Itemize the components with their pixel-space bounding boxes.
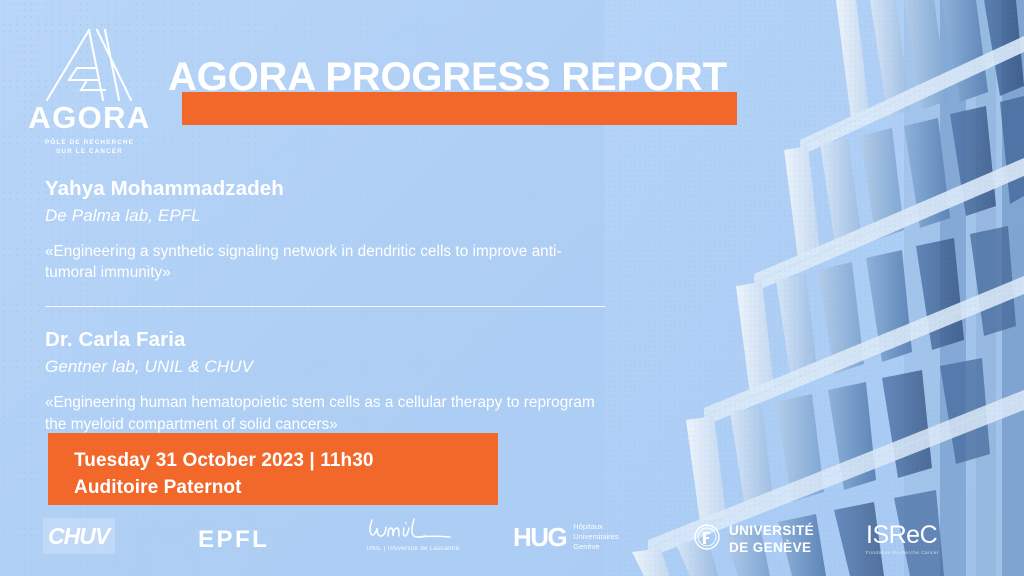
talk-item: Yahya Mohammadzadeh De Palma lab, EPFL «… [45, 176, 610, 284]
hug-logo-subtitle: Hôpitaux Universitaires Genève [573, 522, 618, 552]
unil-logo-subtitle: UNIL | Université de Lausanne [348, 546, 478, 552]
agora-logo: AGORA PÔLE DE RECHERCHE SUR LE CANCER [27, 28, 152, 150]
chuv-logo-wordmark: CHUV [48, 523, 109, 549]
chuv-logo: CHUV [48, 522, 109, 550]
isrec-logo-wordmark: ISReC [866, 522, 966, 549]
hug-logo: HUG Hôpitaux Universitaires Genève [513, 522, 619, 552]
speaker-name: Dr. Carla Faria [45, 327, 610, 353]
unige-logo: UNIVERSITÉ DE GENÈVE [694, 523, 814, 557]
agora-monogram-icon [43, 28, 135, 102]
isrec-logo-subtitle: Fondation Recherche Cancer [866, 550, 966, 555]
speaker-affiliation: Gentner lab, UNIL & CHUV [45, 356, 610, 378]
agora-logo-tagline: PÔLE DE RECHERCHE SUR LE CANCER [27, 138, 152, 157]
agora-logo-wordmark: AGORA [27, 102, 152, 133]
unige-wordmark-line2: DE GENÈVE [729, 540, 811, 555]
hug-subtitle-line2: Universitaires [573, 532, 618, 541]
talks-divider [45, 306, 605, 307]
partner-logos: CHUV EPFL UNIL | Université de Lausanne [0, 514, 1024, 576]
hug-subtitle-line3: Genève [573, 542, 599, 551]
event-datetime: Tuesday 31 October 2023 | 11h30 [74, 448, 498, 475]
hug-logo-wordmark: HUG [513, 524, 566, 550]
speaker-name: Yahya Mohammadzadeh [45, 176, 610, 202]
poster: AGORA PÔLE DE RECHERCHE SUR LE CANCER AG… [0, 0, 1024, 576]
event-venue: Auditoire Paternot [74, 475, 498, 502]
unige-seal-icon [694, 524, 720, 555]
talk-item: Dr. Carla Faria Gentner lab, UNIL & CHUV… [45, 327, 610, 435]
unige-wordmark-line1: UNIVERSITÉ [729, 523, 814, 538]
page-title: AGORA PROGRESS REPORT [168, 56, 748, 130]
title-text: AGORA PROGRESS REPORT [168, 56, 748, 98]
talk-title: «Engineering a synthetic signaling netwo… [45, 241, 610, 284]
unil-logo: UNIL | Université de Lausanne [348, 516, 478, 552]
event-details-box: Tuesday 31 October 2023 | 11h30 Auditoir… [48, 433, 498, 505]
agora-tagline-line1: PÔLE DE RECHERCHE [45, 139, 134, 146]
epfl-logo: EPFL [198, 526, 269, 554]
agora-tagline-line2: SUR LE CANCER [56, 148, 123, 155]
speaker-affiliation: De Palma lab, EPFL [45, 205, 610, 227]
unil-script-icon [348, 516, 478, 542]
talks-list: Yahya Mohammadzadeh De Palma lab, EPFL «… [45, 176, 610, 435]
talk-title: «Engineering human hematopoietic stem ce… [45, 392, 610, 435]
unige-logo-wordmark: UNIVERSITÉ DE GENÈVE [729, 523, 814, 557]
hug-subtitle-line1: Hôpitaux [573, 522, 603, 531]
isrec-logo: ISReC Fondation Recherche Cancer [866, 522, 966, 555]
